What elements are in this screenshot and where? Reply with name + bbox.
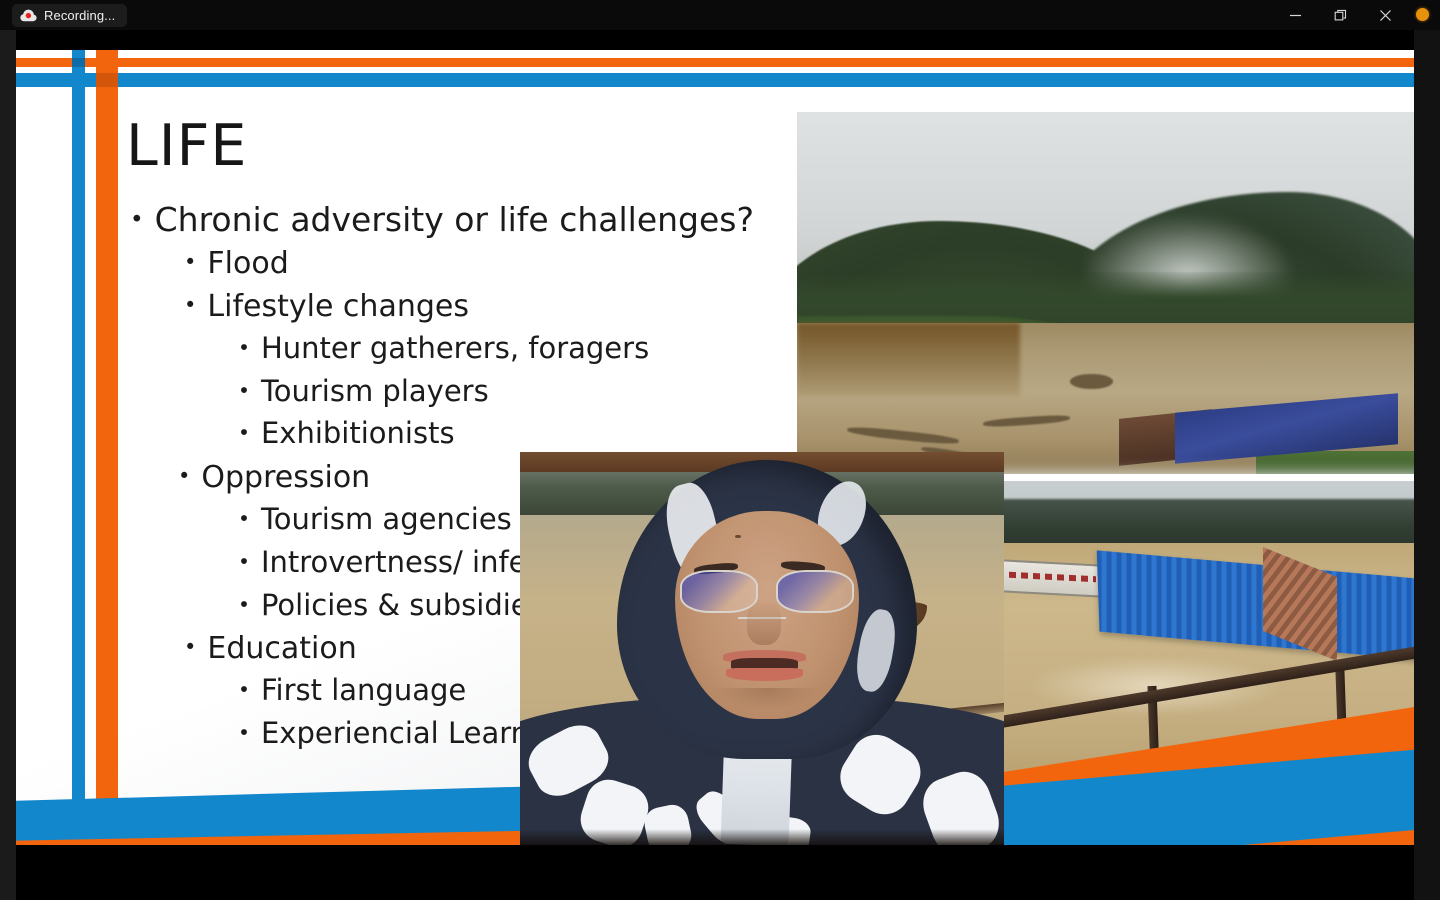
- bullet-glyph: •: [178, 466, 190, 487]
- decorative-bar-blue-horizontal: [16, 73, 1424, 87]
- bullet-glyph: •: [238, 594, 250, 614]
- bullet-text: Chronic adversity or life challenges?: [155, 199, 754, 241]
- decorative-bar-blue-vertical: [72, 50, 85, 845]
- bullet-glyph: •: [184, 638, 196, 659]
- restore-button[interactable]: [1318, 0, 1363, 30]
- title-bar: Recording...: [0, 0, 1440, 30]
- bullet-glyph: •: [238, 337, 250, 357]
- bullet-glyph: •: [238, 423, 250, 443]
- bullet-text: First language: [261, 670, 466, 712]
- decorative-bar-orange-horizontal: [16, 58, 1424, 67]
- bullet-glyph: •: [238, 508, 250, 528]
- letterbox-bottom: [0, 845, 1440, 900]
- minimize-button[interactable]: [1273, 0, 1318, 30]
- slide-bullet-level2: •Flood: [184, 243, 826, 284]
- bullet-glyph: •: [184, 252, 196, 273]
- letterbox-right: [1414, 0, 1440, 900]
- bullet-text: Flood: [207, 243, 288, 284]
- letterbox-left: [0, 30, 16, 900]
- decorative-overlap-orange: [96, 73, 118, 87]
- window-controls: [1273, 0, 1408, 30]
- presenter-video[interactable]: [520, 452, 1004, 845]
- bullet-text: Policies & subsidies: [261, 585, 544, 627]
- status-dot[interactable]: [1416, 8, 1429, 21]
- meeting-window: LIFE •Chronic adversity or life challeng…: [0, 0, 1440, 900]
- recording-indicator[interactable]: Recording...: [12, 4, 127, 27]
- slide-bullet-level3: •Hunter gatherers, foragers: [238, 328, 826, 370]
- slide-bullet-level3: •Exhibitionists: [238, 413, 826, 455]
- bullet-glyph: •: [238, 380, 250, 400]
- bullet-text: Tourism agencies: [261, 499, 512, 541]
- bullet-glyph: •: [184, 295, 196, 316]
- recording-cloud-icon: [20, 9, 37, 22]
- bullet-glyph: •: [238, 723, 250, 743]
- slide-bullet-level3: •Tourism players: [238, 371, 826, 413]
- bullet-text: Hunter gatherers, foragers: [261, 328, 649, 370]
- bullet-text: Tourism players: [261, 371, 489, 413]
- bullet-text: Education: [207, 628, 356, 669]
- decorative-overlap-blue: [72, 58, 85, 67]
- slide-bullet-level1: •Chronic adversity or life challenges?: [130, 199, 826, 241]
- bullet-text: Oppression: [201, 457, 370, 498]
- bullet-glyph: •: [238, 680, 250, 700]
- flood-river-photo: [790, 105, 1424, 483]
- bullet-text: Lifestyle changes: [207, 286, 469, 327]
- slide-title: LIFE: [126, 118, 826, 175]
- slide-bullet-level2: •Lifestyle changes: [184, 286, 826, 327]
- bullet-text: Exhibitionists: [261, 413, 455, 455]
- decorative-bar-orange-vertical: [96, 50, 118, 845]
- bullet-glyph: •: [238, 551, 250, 571]
- close-button[interactable]: [1363, 0, 1408, 30]
- recording-label: Recording...: [44, 8, 115, 23]
- bullet-glyph: •: [130, 209, 144, 232]
